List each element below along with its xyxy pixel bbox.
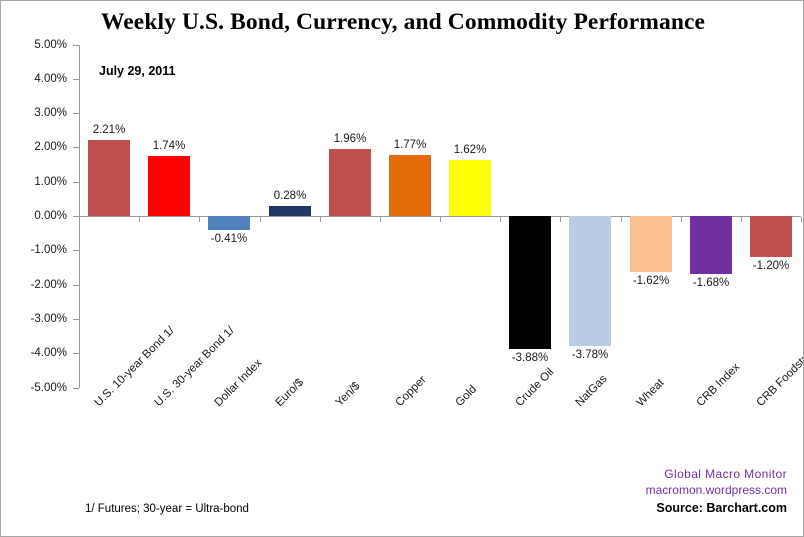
x-axis-category-label: Copper — [394, 374, 429, 409]
bar[interactable] — [148, 156, 190, 216]
x-axis-category-label: CRB Foodstuffs — [755, 343, 804, 409]
bar-value-label: -0.41% — [191, 233, 267, 245]
x-axis-tick — [500, 217, 501, 222]
y-axis-tick-label: -2.00% — [7, 279, 67, 291]
x-axis-category-label: CRB Index — [695, 361, 743, 409]
bar[interactable] — [569, 216, 611, 346]
brand-url[interactable]: macromon.wordpress.com — [646, 483, 787, 497]
date-annotation: July 29, 2011 — [99, 64, 175, 78]
x-axis-category-label: NatGas — [574, 373, 610, 409]
y-axis-tick — [73, 285, 79, 286]
y-axis-tick — [73, 353, 79, 354]
x-axis-tick — [380, 217, 381, 222]
brand-name: Global Macro Monitor — [664, 467, 787, 481]
chart-screenshot: Weekly U.S. Bond, Currency, and Commodit… — [0, 0, 804, 537]
x-axis-tick — [320, 217, 321, 222]
bar[interactable] — [449, 160, 491, 216]
bar[interactable] — [690, 216, 732, 274]
y-axis-tick-label: 0.00% — [7, 210, 67, 222]
bar-value-label: 1.74% — [131, 140, 207, 152]
x-axis-tick — [440, 217, 441, 222]
y-axis-tick-label: 1.00% — [7, 176, 67, 188]
x-axis-category-label: Gold — [454, 383, 480, 409]
bar-value-label: -1.68% — [673, 277, 749, 289]
x-axis-tick — [260, 217, 261, 222]
bar[interactable] — [509, 216, 551, 349]
x-axis-tick — [801, 217, 802, 222]
bar-value-label: -1.20% — [733, 260, 804, 272]
y-axis-tick-label: -1.00% — [7, 244, 67, 256]
bar[interactable] — [269, 206, 311, 216]
bar-value-label: 2.21% — [71, 124, 147, 136]
y-axis-tick-label: -3.00% — [7, 313, 67, 325]
x-axis-category-label: Crude Oil — [514, 366, 557, 409]
y-axis-tick-label: -4.00% — [7, 347, 67, 359]
y-axis-tick — [73, 250, 79, 251]
y-axis-tick — [73, 319, 79, 320]
y-axis-tick — [73, 79, 79, 80]
y-axis-tick-label: -5.00% — [7, 382, 67, 394]
x-axis-category-label: Euro/$ — [274, 377, 306, 409]
bar[interactable] — [329, 149, 371, 216]
y-axis-tick — [73, 388, 79, 389]
bar[interactable] — [389, 155, 431, 216]
x-axis-tick — [139, 217, 140, 222]
y-axis-tick — [73, 182, 79, 183]
x-axis-category-label: Yen/$ — [334, 380, 363, 409]
x-axis-tick — [199, 217, 200, 222]
x-axis-tick — [741, 217, 742, 222]
bar[interactable] — [208, 216, 250, 230]
y-axis-tick — [73, 147, 79, 148]
y-axis-tick-label: 2.00% — [7, 141, 67, 153]
y-axis-tick-label: 3.00% — [7, 107, 67, 119]
x-axis-tick — [560, 217, 561, 222]
y-axis-tick-label: 5.00% — [7, 39, 67, 51]
y-axis-tick — [73, 113, 79, 114]
page-title: Weekly U.S. Bond, Currency, and Commodit… — [1, 9, 804, 36]
source-credit: Source: Barchart.com — [656, 501, 787, 515]
bar[interactable] — [750, 216, 792, 257]
bar-value-label: 1.62% — [432, 144, 508, 156]
bar[interactable] — [630, 216, 672, 272]
y-axis-tick — [73, 45, 79, 46]
x-axis-tick — [79, 217, 80, 222]
y-axis-tick-label: 4.00% — [7, 73, 67, 85]
bar-value-label: -3.78% — [552, 349, 628, 361]
footnote: 1/ Futures; 30-year = Ultra-bond — [85, 503, 249, 515]
bar-value-label: 0.28% — [252, 190, 328, 202]
x-axis-category-label: Dollar Index — [213, 357, 265, 409]
x-axis-tick — [681, 217, 682, 222]
x-axis-tick — [621, 217, 622, 222]
bar[interactable] — [88, 140, 130, 216]
x-axis-category-label: Wheat — [635, 377, 667, 409]
